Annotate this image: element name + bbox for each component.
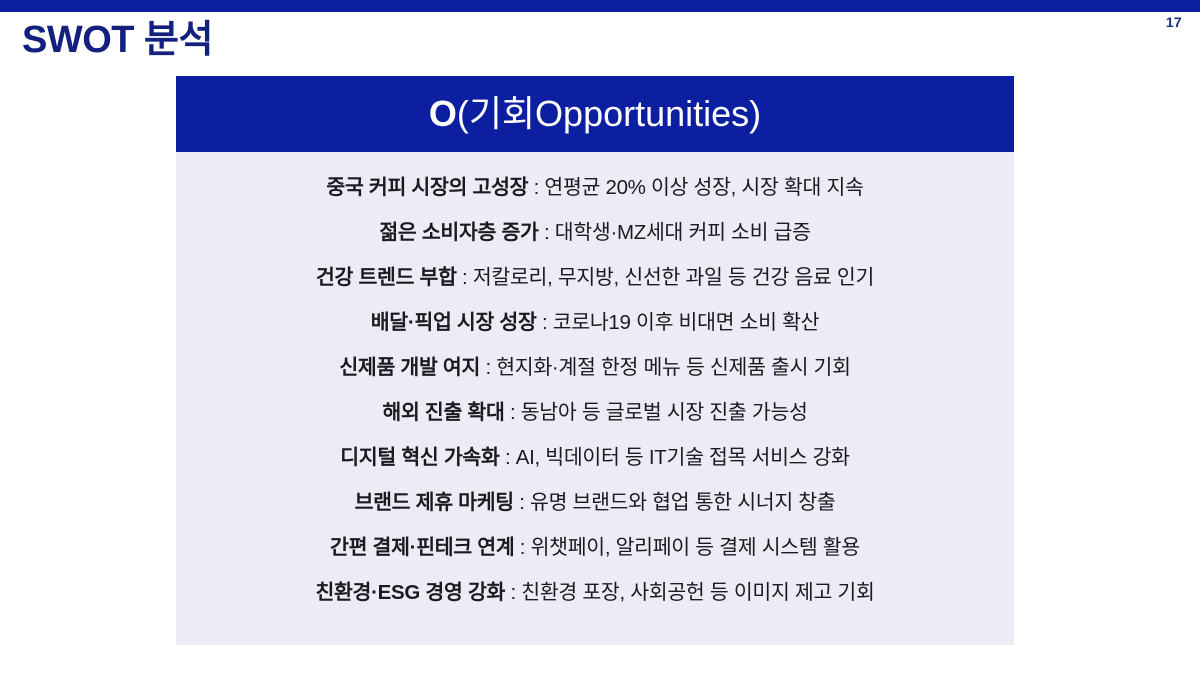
- panel-header: O(기회Opportunities): [176, 76, 1014, 152]
- list-item-separator: :: [480, 356, 496, 379]
- list-item: 간편 결제·핀테크 연계 : 위챗페이, 알리페이 등 결제 시스템 활용: [190, 538, 1000, 559]
- top-accent-bar: [0, 0, 1200, 12]
- list-item-lead: 중국 커피 시장의 고성장: [326, 176, 528, 199]
- list-item-lead: 젊은 소비자층 증가: [379, 221, 538, 244]
- slide-root: 17 SWOT 분석 O(기회Opportunities) 중국 커피 시장의 …: [0, 0, 1200, 675]
- list-item: 젊은 소비자층 증가 : 대학생·MZ세대 커피 소비 급증: [190, 223, 1000, 244]
- list-item: 신제품 개발 여지 : 현지화·계절 한정 메뉴 등 신제품 출시 기회: [190, 358, 1000, 379]
- list-item: 친환경·ESG 경영 강화 : 친환경 포장, 사회공헌 등 이미지 제고 기회: [190, 583, 1000, 604]
- list-item-lead: 간편 결제·핀테크 연계: [330, 536, 514, 559]
- list-item-separator: :: [528, 176, 544, 199]
- list-item-lead: 해외 진출 확대: [382, 401, 504, 424]
- list-item-detail: 친환경 포장, 사회공헌 등 이미지 제고 기회: [521, 581, 874, 604]
- list-item-separator: :: [514, 491, 530, 514]
- page-number: 17: [1166, 14, 1182, 30]
- list-item-lead: 친환경·ESG 경영 강화: [315, 581, 505, 604]
- list-item-separator: :: [537, 311, 553, 334]
- list-item-separator: :: [505, 581, 521, 604]
- list-item-separator: :: [539, 221, 555, 244]
- list-item-separator: :: [457, 266, 473, 289]
- list-item-lead: 디지털 혁신 가속화: [340, 446, 499, 469]
- list-item: 해외 진출 확대 : 동남아 등 글로벌 시장 진출 가능성: [190, 403, 1000, 424]
- list-item-detail: 코로나19 이후 비대면 소비 확산: [553, 311, 820, 334]
- page-title: SWOT 분석: [22, 20, 213, 62]
- list-item: 건강 트렌드 부합 : 저칼로리, 무지방, 신선한 과일 등 건강 음료 인기: [190, 268, 1000, 289]
- list-item-detail: 연평균 20% 이상 성장, 시장 확대 지속: [544, 176, 863, 199]
- list-item-lead: 신제품 개발 여지: [339, 356, 480, 379]
- list-item-separator: :: [514, 536, 530, 559]
- list-item-separator: :: [505, 401, 521, 424]
- list-item-detail: AI, 빅데이터 등 IT기술 접목 서비스 강화: [516, 446, 850, 469]
- panel-header-text: O(기회Opportunities): [429, 96, 761, 132]
- list-item-detail: 저칼로리, 무지방, 신선한 과일 등 건강 음료 인기: [473, 266, 874, 289]
- list-item: 배달·픽업 시장 성장 : 코로나19 이후 비대면 소비 확산: [190, 313, 1000, 334]
- list-item-detail: 동남아 등 글로벌 시장 진출 가능성: [521, 401, 808, 424]
- list-item-lead: 건강 트렌드 부합: [316, 266, 457, 289]
- list-item-lead: 배달·픽업 시장 성장: [371, 311, 537, 334]
- list-item-detail: 대학생·MZ세대 커피 소비 급증: [555, 221, 811, 244]
- panel-header-label: (기회Opportunities): [457, 93, 761, 134]
- list-item-detail: 현지화·계절 한정 메뉴 등 신제품 출시 기회: [496, 356, 850, 379]
- opportunity-mark-o: O: [429, 93, 457, 134]
- opportunities-panel: O(기회Opportunities) 중국 커피 시장의 고성장 : 연평균 2…: [176, 76, 1014, 645]
- list-item: 브랜드 제휴 마케팅 : 유명 브랜드와 협업 통한 시너지 창출: [190, 493, 1000, 514]
- list-item-separator: :: [500, 446, 516, 469]
- list-item-detail: 유명 브랜드와 협업 통한 시너지 창출: [530, 491, 835, 514]
- list-item: 디지털 혁신 가속화 : AI, 빅데이터 등 IT기술 접목 서비스 강화: [190, 448, 1000, 469]
- list-item-lead: 브랜드 제휴 마케팅: [355, 491, 514, 514]
- list-item-detail: 위챗페이, 알리페이 등 결제 시스템 활용: [531, 536, 860, 559]
- opportunities-list: 중국 커피 시장의 고성장 : 연평균 20% 이상 성장, 시장 확대 지속 …: [176, 152, 1014, 624]
- list-item: 중국 커피 시장의 고성장 : 연평균 20% 이상 성장, 시장 확대 지속: [190, 178, 1000, 199]
